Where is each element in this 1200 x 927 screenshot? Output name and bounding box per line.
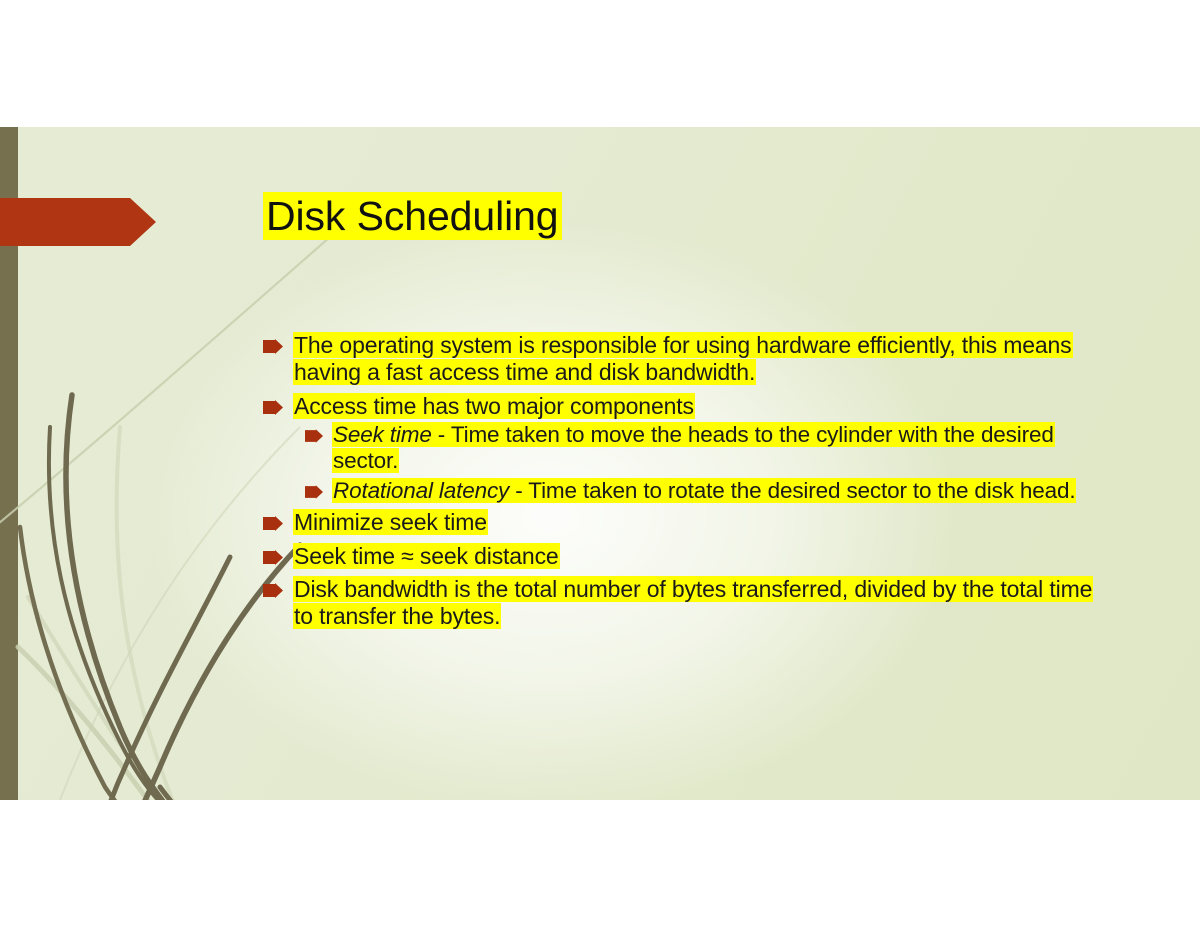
- highlighted-text: Disk bandwidth is the total number of by…: [293, 576, 1093, 629]
- list-item: Minimize seek time: [263, 509, 1103, 536]
- bullet-pennant-icon: [305, 485, 323, 499]
- page-title: Disk Scheduling: [263, 192, 562, 240]
- list-item-text: Disk bandwidth is the total number of by…: [293, 576, 1103, 630]
- list-item: Seek time ≈ seek distance: [263, 543, 1103, 570]
- term-definition: - Time taken to move the heads to the cy…: [333, 422, 1054, 473]
- slide-canvas: Disk Scheduling The operating system is …: [0, 0, 1200, 927]
- bullet-pennant-icon: [263, 550, 283, 565]
- list-item-text: Minimize seek time: [293, 509, 488, 536]
- list-item: Access time has two major components: [263, 393, 1103, 420]
- highlighted-text: Seek time ≈ seek distance: [293, 543, 560, 569]
- bullet-pennant-icon: [263, 339, 283, 354]
- sub-list-item-text: Seek time - Time taken to move the heads…: [332, 422, 1103, 475]
- term-emphasis: Rotational latency: [333, 478, 509, 503]
- list-item-text: The operating system is responsible for …: [293, 332, 1103, 386]
- list-item-text: Access time has two major components: [293, 393, 695, 420]
- list-item: The operating system is responsible for …: [263, 332, 1103, 386]
- red-banner-shape: [0, 198, 156, 246]
- bullet-pennant-icon: [263, 400, 283, 415]
- highlighted-text: The operating system is responsible for …: [293, 332, 1073, 385]
- title-container: Disk Scheduling: [263, 193, 562, 241]
- highlighted-text: Rotational latency - Time taken to rotat…: [332, 478, 1076, 503]
- highlighted-text: Minimize seek time: [293, 509, 488, 535]
- bullet-pennant-icon: [263, 516, 283, 531]
- bullet-pennant-icon: [263, 583, 283, 598]
- list-item-text: Seek time ≈ seek distance: [293, 543, 560, 570]
- bullet-pennant-icon: [305, 429, 323, 443]
- highlighted-text: Seek time - Time taken to move the heads…: [332, 422, 1055, 473]
- highlighted-text: Access time has two major components: [293, 393, 695, 419]
- bullet-list: The operating system is responsible for …: [263, 332, 1103, 632]
- term-emphasis: Seek time: [333, 422, 432, 447]
- list-item: Disk bandwidth is the total number of by…: [263, 576, 1103, 630]
- sub-list-item-text: Rotational latency - Time taken to rotat…: [332, 478, 1076, 504]
- presentation-slide: Disk Scheduling The operating system is …: [0, 127, 1200, 800]
- term-definition: - Time taken to rotate the desired secto…: [509, 478, 1075, 503]
- sub-list-item: Seek time - Time taken to move the heads…: [305, 422, 1103, 475]
- sub-list-item: Rotational latency - Time taken to rotat…: [305, 478, 1103, 504]
